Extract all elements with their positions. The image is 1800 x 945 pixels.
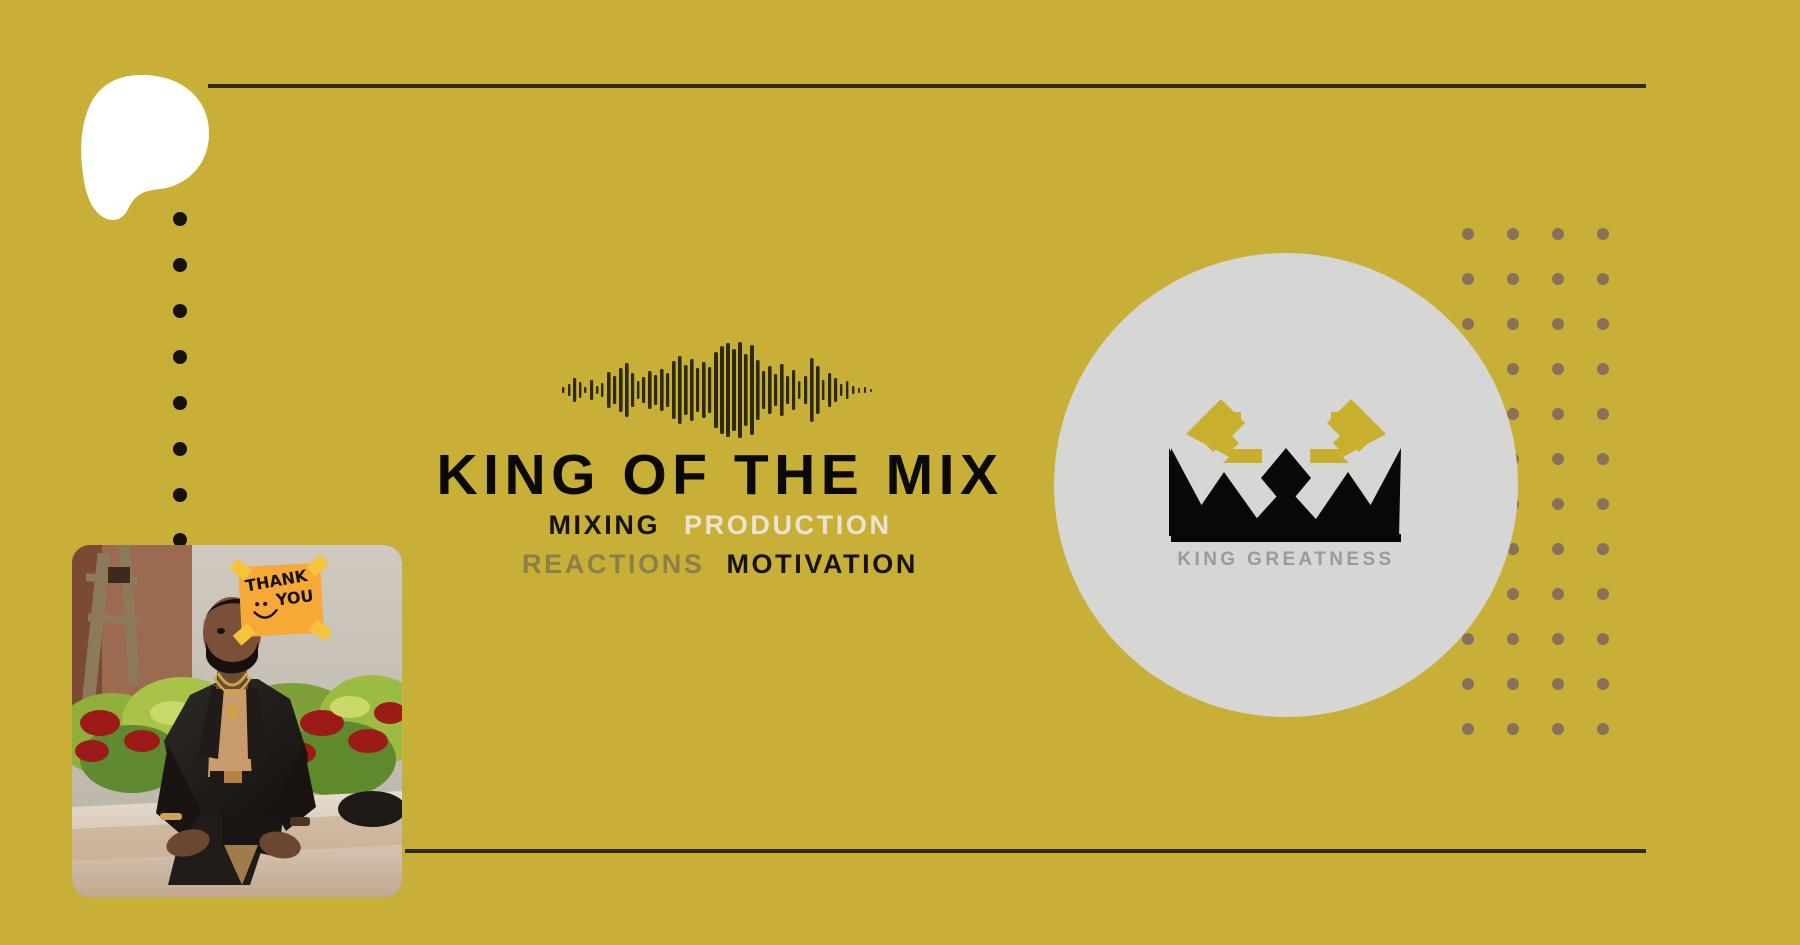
bottom-divider-rule: [405, 849, 1646, 853]
grid-dot: [1552, 633, 1564, 645]
grid-dot: [1507, 723, 1519, 735]
service-reactions: REACTIONS: [522, 549, 704, 580]
logo-caption: KING GREATNESS: [1054, 549, 1518, 571]
rail-dot: [173, 258, 187, 272]
rail-dot: [173, 350, 187, 364]
thank-you-sticky-note: THANK YOU: [238, 563, 324, 637]
patreon-p-icon[interactable]: [78, 73, 210, 221]
grid-dot: [1507, 318, 1519, 330]
profile-photo-image: [72, 545, 402, 897]
grid-dot: [1552, 453, 1564, 465]
grid-dot: [1597, 633, 1609, 645]
grid-dot: [1597, 588, 1609, 600]
rail-dot: [173, 396, 187, 410]
grid-dot: [1507, 273, 1519, 285]
grid-dot: [1597, 318, 1609, 330]
audio-waveform-icon: [560, 340, 880, 440]
service-production: PRODUCTION: [684, 510, 892, 541]
grid-dot: [1597, 678, 1609, 690]
rail-dot: [173, 212, 187, 226]
services-row-1: MIXING PRODUCTION: [400, 510, 1040, 541]
grid-dot: [1552, 588, 1564, 600]
grid-dot: [1597, 363, 1609, 375]
grid-dot: [1462, 228, 1474, 240]
smiley-face-icon: [249, 597, 285, 629]
grid-dot: [1597, 453, 1609, 465]
grid-dot: [1462, 273, 1474, 285]
profile-photo-card[interactable]: THANK YOU: [72, 545, 402, 897]
rail-dot: [173, 442, 187, 456]
grid-dot: [1552, 273, 1564, 285]
grid-dot: [1597, 723, 1609, 735]
page-title: KING OF THE MIX: [400, 446, 1040, 504]
logo-badge: KING GREATNESS: [1054, 253, 1518, 717]
grid-dot: [1507, 228, 1519, 240]
grid-dot: [1462, 318, 1474, 330]
grid-dot: [1552, 318, 1564, 330]
grid-dot: [1552, 363, 1564, 375]
banner-canvas: KING OF THE MIX MIXING PRODUCTION REACTI…: [0, 0, 1800, 945]
brand-lockup: KING OF THE MIX MIXING PRODUCTION REACTI…: [400, 340, 1040, 580]
rail-dot: [173, 304, 187, 318]
grid-dot: [1552, 543, 1564, 555]
service-mixing: MIXING: [548, 510, 660, 541]
service-motivation: MOTIVATION: [726, 549, 917, 580]
grid-dot: [1597, 228, 1609, 240]
grid-dot: [1552, 228, 1564, 240]
grid-dot: [1462, 723, 1474, 735]
grid-dot: [1507, 363, 1519, 375]
rail-dot: [173, 488, 187, 502]
vertical-dot-rail: [173, 212, 189, 547]
grid-dot: [1507, 678, 1519, 690]
grid-dot: [1597, 543, 1609, 555]
grid-dot: [1552, 498, 1564, 510]
grid-dot: [1462, 678, 1474, 690]
grid-dot: [1462, 633, 1474, 645]
grid-dot: [1507, 588, 1519, 600]
top-divider-rule: [208, 84, 1646, 88]
grid-dot: [1597, 498, 1609, 510]
grid-dot: [1552, 408, 1564, 420]
grid-dot: [1552, 678, 1564, 690]
grid-dot: [1507, 408, 1519, 420]
grid-dot: [1597, 273, 1609, 285]
grid-dot: [1507, 633, 1519, 645]
services-row-2: REACTIONS MOTIVATION: [400, 549, 1040, 580]
grid-dot: [1597, 408, 1609, 420]
grid-dot: [1552, 723, 1564, 735]
